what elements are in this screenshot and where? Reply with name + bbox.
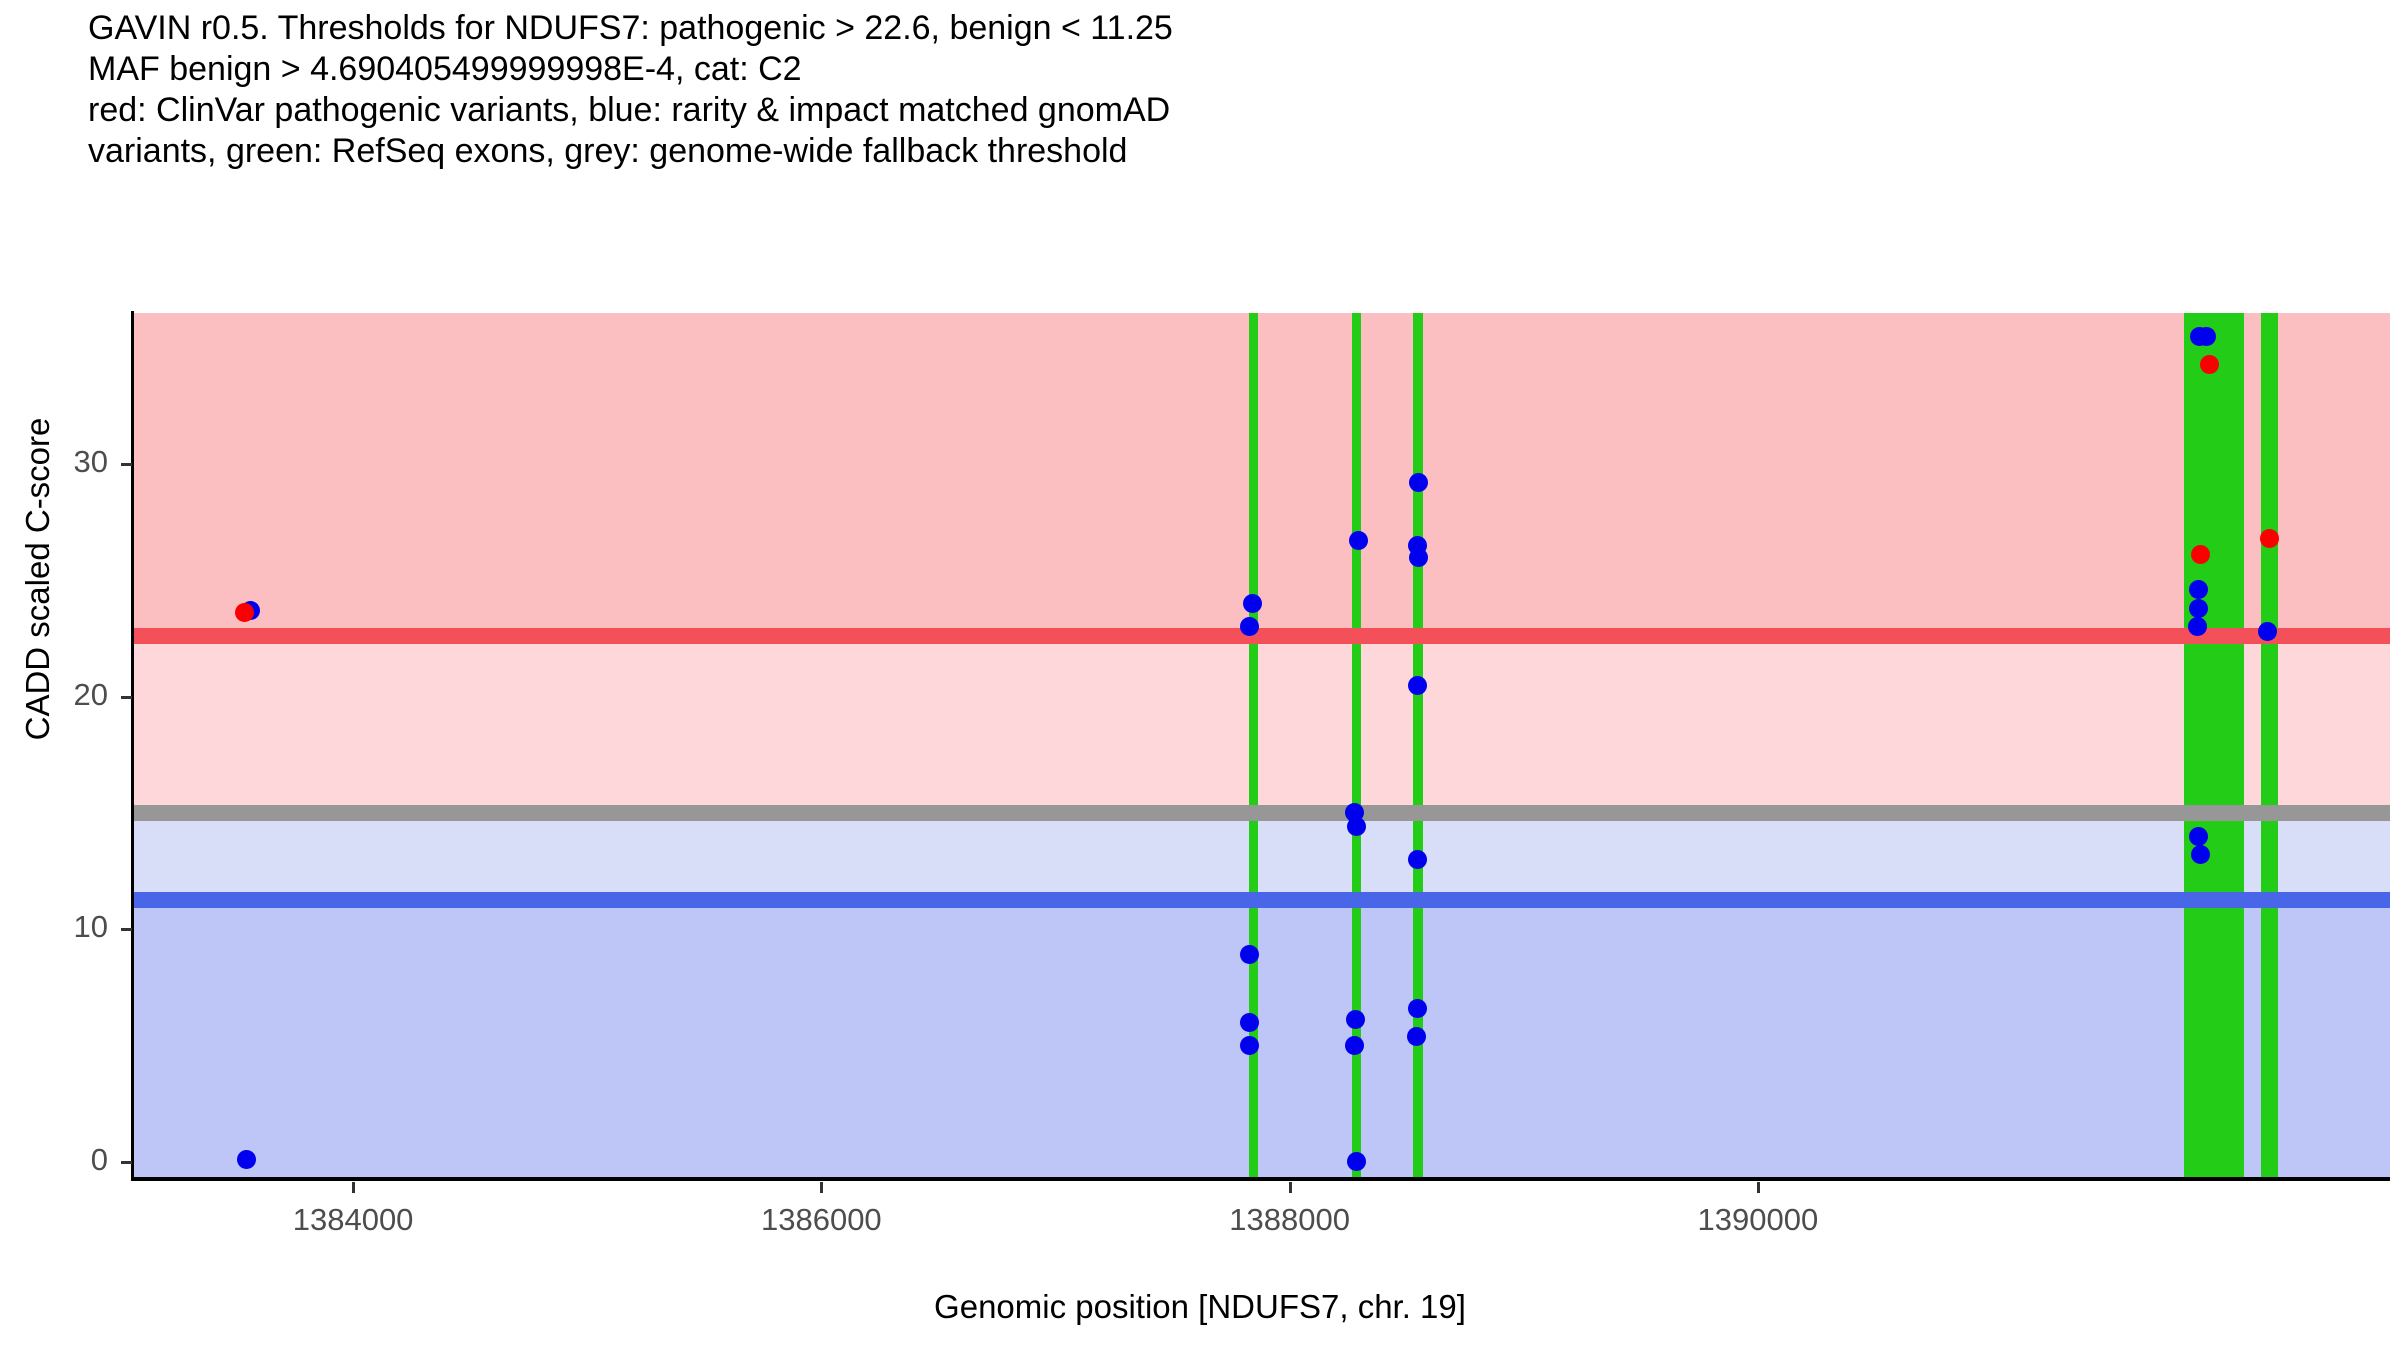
- gnomad-variant-point: [2191, 845, 2210, 864]
- refseq-exon-band-4: [2184, 313, 2244, 1178]
- zone-benign: [133, 900, 2390, 1178]
- chart-title-block: GAVIN r0.5. Thresholds for NDUFS7: patho…: [88, 8, 2378, 172]
- gnomad-variant-point: [1240, 945, 1259, 964]
- x-tick-mark-1384000: [352, 1182, 355, 1193]
- title-line-1: GAVIN r0.5. Thresholds for NDUFS7: patho…: [88, 8, 2378, 49]
- zone-ambiguous-lower: [133, 813, 2390, 900]
- gnomad-variant-point: [1408, 999, 1427, 1018]
- threshold-line-fallback: [133, 805, 2390, 821]
- gnomad-variant-point: [1240, 1036, 1259, 1055]
- gnomad-variant-point: [2189, 580, 2208, 599]
- gnomad-variant-point: [1347, 1152, 1366, 1171]
- gnomad-variant-point: [1243, 594, 1262, 613]
- clinvar-variant-point: [2200, 355, 2219, 374]
- zone-pathogenic: [133, 313, 2390, 636]
- y-axis-line: [131, 311, 134, 1180]
- x-tick-label-1384000: 1384000: [223, 1202, 483, 1238]
- gnomad-variant-point: [2188, 617, 2207, 636]
- y-tick-mark-0: [121, 1161, 132, 1164]
- gnomad-variant-point: [1408, 850, 1427, 869]
- y-tick-mark-30: [121, 463, 132, 466]
- gnomad-variant-point: [237, 1150, 256, 1169]
- x-tick-label-1390000: 1390000: [1628, 1202, 1888, 1238]
- y-tick-mark-20: [121, 696, 132, 699]
- gnomad-variant-point: [1408, 676, 1427, 695]
- x-axis-line: [131, 1177, 2390, 1181]
- gnomad-variant-point: [1345, 1036, 1364, 1055]
- gnomad-variant-point: [1407, 1027, 1426, 1046]
- refseq-exon-band-5: [2261, 313, 2277, 1178]
- x-tick-label-1388000: 1388000: [1160, 1202, 1420, 1238]
- chart-page: GAVIN r0.5. Thresholds for NDUFS7: patho…: [0, 0, 2400, 1350]
- gnomad-variant-point: [2197, 327, 2216, 346]
- gnomad-variant-point: [1346, 1010, 1365, 1029]
- x-tick-mark-1388000: [1289, 1182, 1292, 1193]
- zone-ambiguous-upper: [133, 636, 2390, 813]
- refseq-exon-band-3: [1413, 313, 1423, 1178]
- title-line-2: MAF benign > 4.690405499999998E-4, cat: …: [88, 49, 2378, 90]
- gnomad-variant-point: [2189, 827, 2208, 846]
- title-line-4: variants, green: RefSeq exons, grey: gen…: [88, 131, 2378, 172]
- clinvar-variant-point: [2260, 529, 2279, 548]
- gnomad-variant-point: [1240, 1013, 1259, 1032]
- y-tick-mark-10: [121, 928, 132, 931]
- threshold-line-benign: [133, 892, 2390, 908]
- x-tick-mark-1390000: [1757, 1182, 1760, 1193]
- y-axis-label: CADD scaled C-score: [19, 229, 57, 929]
- threshold-line-pathogenic: [133, 628, 2390, 644]
- gnomad-variant-point: [1409, 548, 1428, 567]
- gnomad-variant-point: [2258, 622, 2277, 641]
- gnomad-variant-point: [2189, 599, 2208, 618]
- y-tick-label-0: 0: [22, 1142, 108, 1178]
- title-line-3: red: ClinVar pathogenic variants, blue: …: [88, 90, 2378, 131]
- x-axis-label: Genomic position [NDUFS7, chr. 19]: [0, 1288, 2400, 1326]
- plot-panel: [133, 313, 2390, 1178]
- x-tick-mark-1386000: [820, 1182, 823, 1193]
- x-tick-label-1386000: 1386000: [691, 1202, 951, 1238]
